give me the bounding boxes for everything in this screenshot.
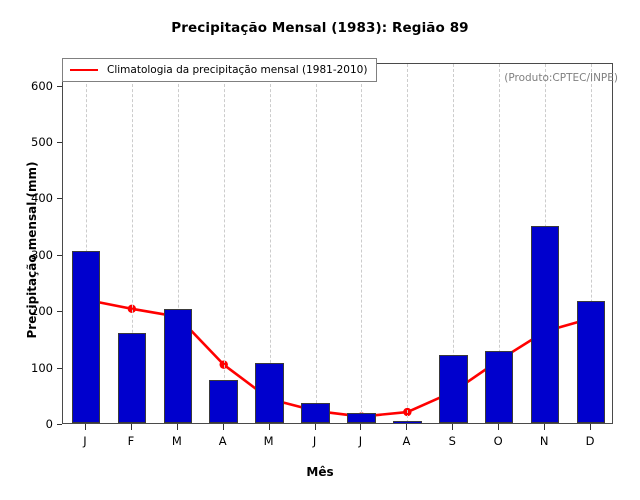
x-tick-mark	[360, 424, 361, 430]
bar-f-1	[118, 333, 146, 423]
y-tick-mark	[57, 142, 62, 143]
y-tick-mark	[57, 311, 62, 312]
bar-n-10	[531, 226, 559, 423]
product-annotation: (Produto:CPTEC/INPE)	[504, 72, 618, 84]
x-tick-label-3: A	[206, 434, 240, 448]
y-tick-mark	[57, 255, 62, 256]
legend-line-swatch-icon	[70, 69, 98, 71]
x-tick-mark	[498, 424, 499, 430]
x-tick-mark	[269, 424, 270, 430]
x-tick-label-0: J	[68, 434, 102, 448]
bar-m-4	[255, 363, 283, 423]
bar-j-6	[347, 413, 375, 423]
y-tick-mark	[57, 368, 62, 369]
x-tick-mark	[131, 424, 132, 430]
x-tick-label-8: S	[435, 434, 469, 448]
plot-area	[62, 63, 613, 424]
chart-title: Precipitação Mensal (1983): Região 89	[0, 20, 640, 36]
x-tick-mark	[223, 424, 224, 430]
bar-j-5	[301, 403, 329, 423]
precipitation-chart: Precipitação Mensal (1983): Região 89 Pr…	[0, 0, 640, 500]
gridline-vertical	[361, 64, 362, 423]
y-tick-label-100: 100	[0, 361, 53, 375]
bar-d-11	[577, 301, 605, 423]
bar-o-9	[485, 351, 513, 423]
x-tick-label-11: D	[573, 434, 607, 448]
x-tick-label-5: J	[298, 434, 332, 448]
x-axis-title: Mês	[0, 465, 640, 479]
x-tick-label-7: A	[389, 434, 423, 448]
chart-legend: Climatologia da precipitação mensal (198…	[62, 58, 377, 82]
gridline-vertical	[316, 64, 317, 423]
x-tick-mark	[590, 424, 591, 430]
y-tick-label-200: 200	[0, 304, 53, 318]
bar-m-2	[164, 309, 192, 424]
y-tick-label-600: 600	[0, 79, 53, 93]
y-tick-label-500: 500	[0, 135, 53, 149]
x-tick-mark	[544, 424, 545, 430]
climatology-polyline	[86, 300, 591, 417]
x-tick-mark	[452, 424, 453, 430]
y-tick-mark	[57, 198, 62, 199]
y-tick-label-300: 300	[0, 248, 53, 262]
y-tick-mark	[57, 86, 62, 87]
x-tick-label-6: J	[343, 434, 377, 448]
y-tick-label-400: 400	[0, 191, 53, 205]
x-tick-label-4: M	[252, 434, 286, 448]
x-tick-label-1: F	[114, 434, 148, 448]
x-tick-mark	[85, 424, 86, 430]
legend-entry-label: Climatologia da precipitação mensal (198…	[107, 64, 367, 76]
x-tick-mark	[177, 424, 178, 430]
x-tick-mark	[406, 424, 407, 430]
bar-a-7	[393, 421, 421, 423]
x-tick-mark	[315, 424, 316, 430]
gridline-vertical	[407, 64, 408, 423]
bar-j-0	[72, 251, 100, 423]
x-tick-label-10: N	[527, 434, 561, 448]
bar-a-3	[209, 380, 237, 423]
gridline-vertical	[224, 64, 225, 423]
bar-s-8	[439, 355, 467, 423]
x-tick-label-2: M	[160, 434, 194, 448]
x-tick-label-9: O	[481, 434, 515, 448]
y-tick-label-0: 0	[0, 417, 53, 431]
y-tick-mark	[57, 424, 62, 425]
